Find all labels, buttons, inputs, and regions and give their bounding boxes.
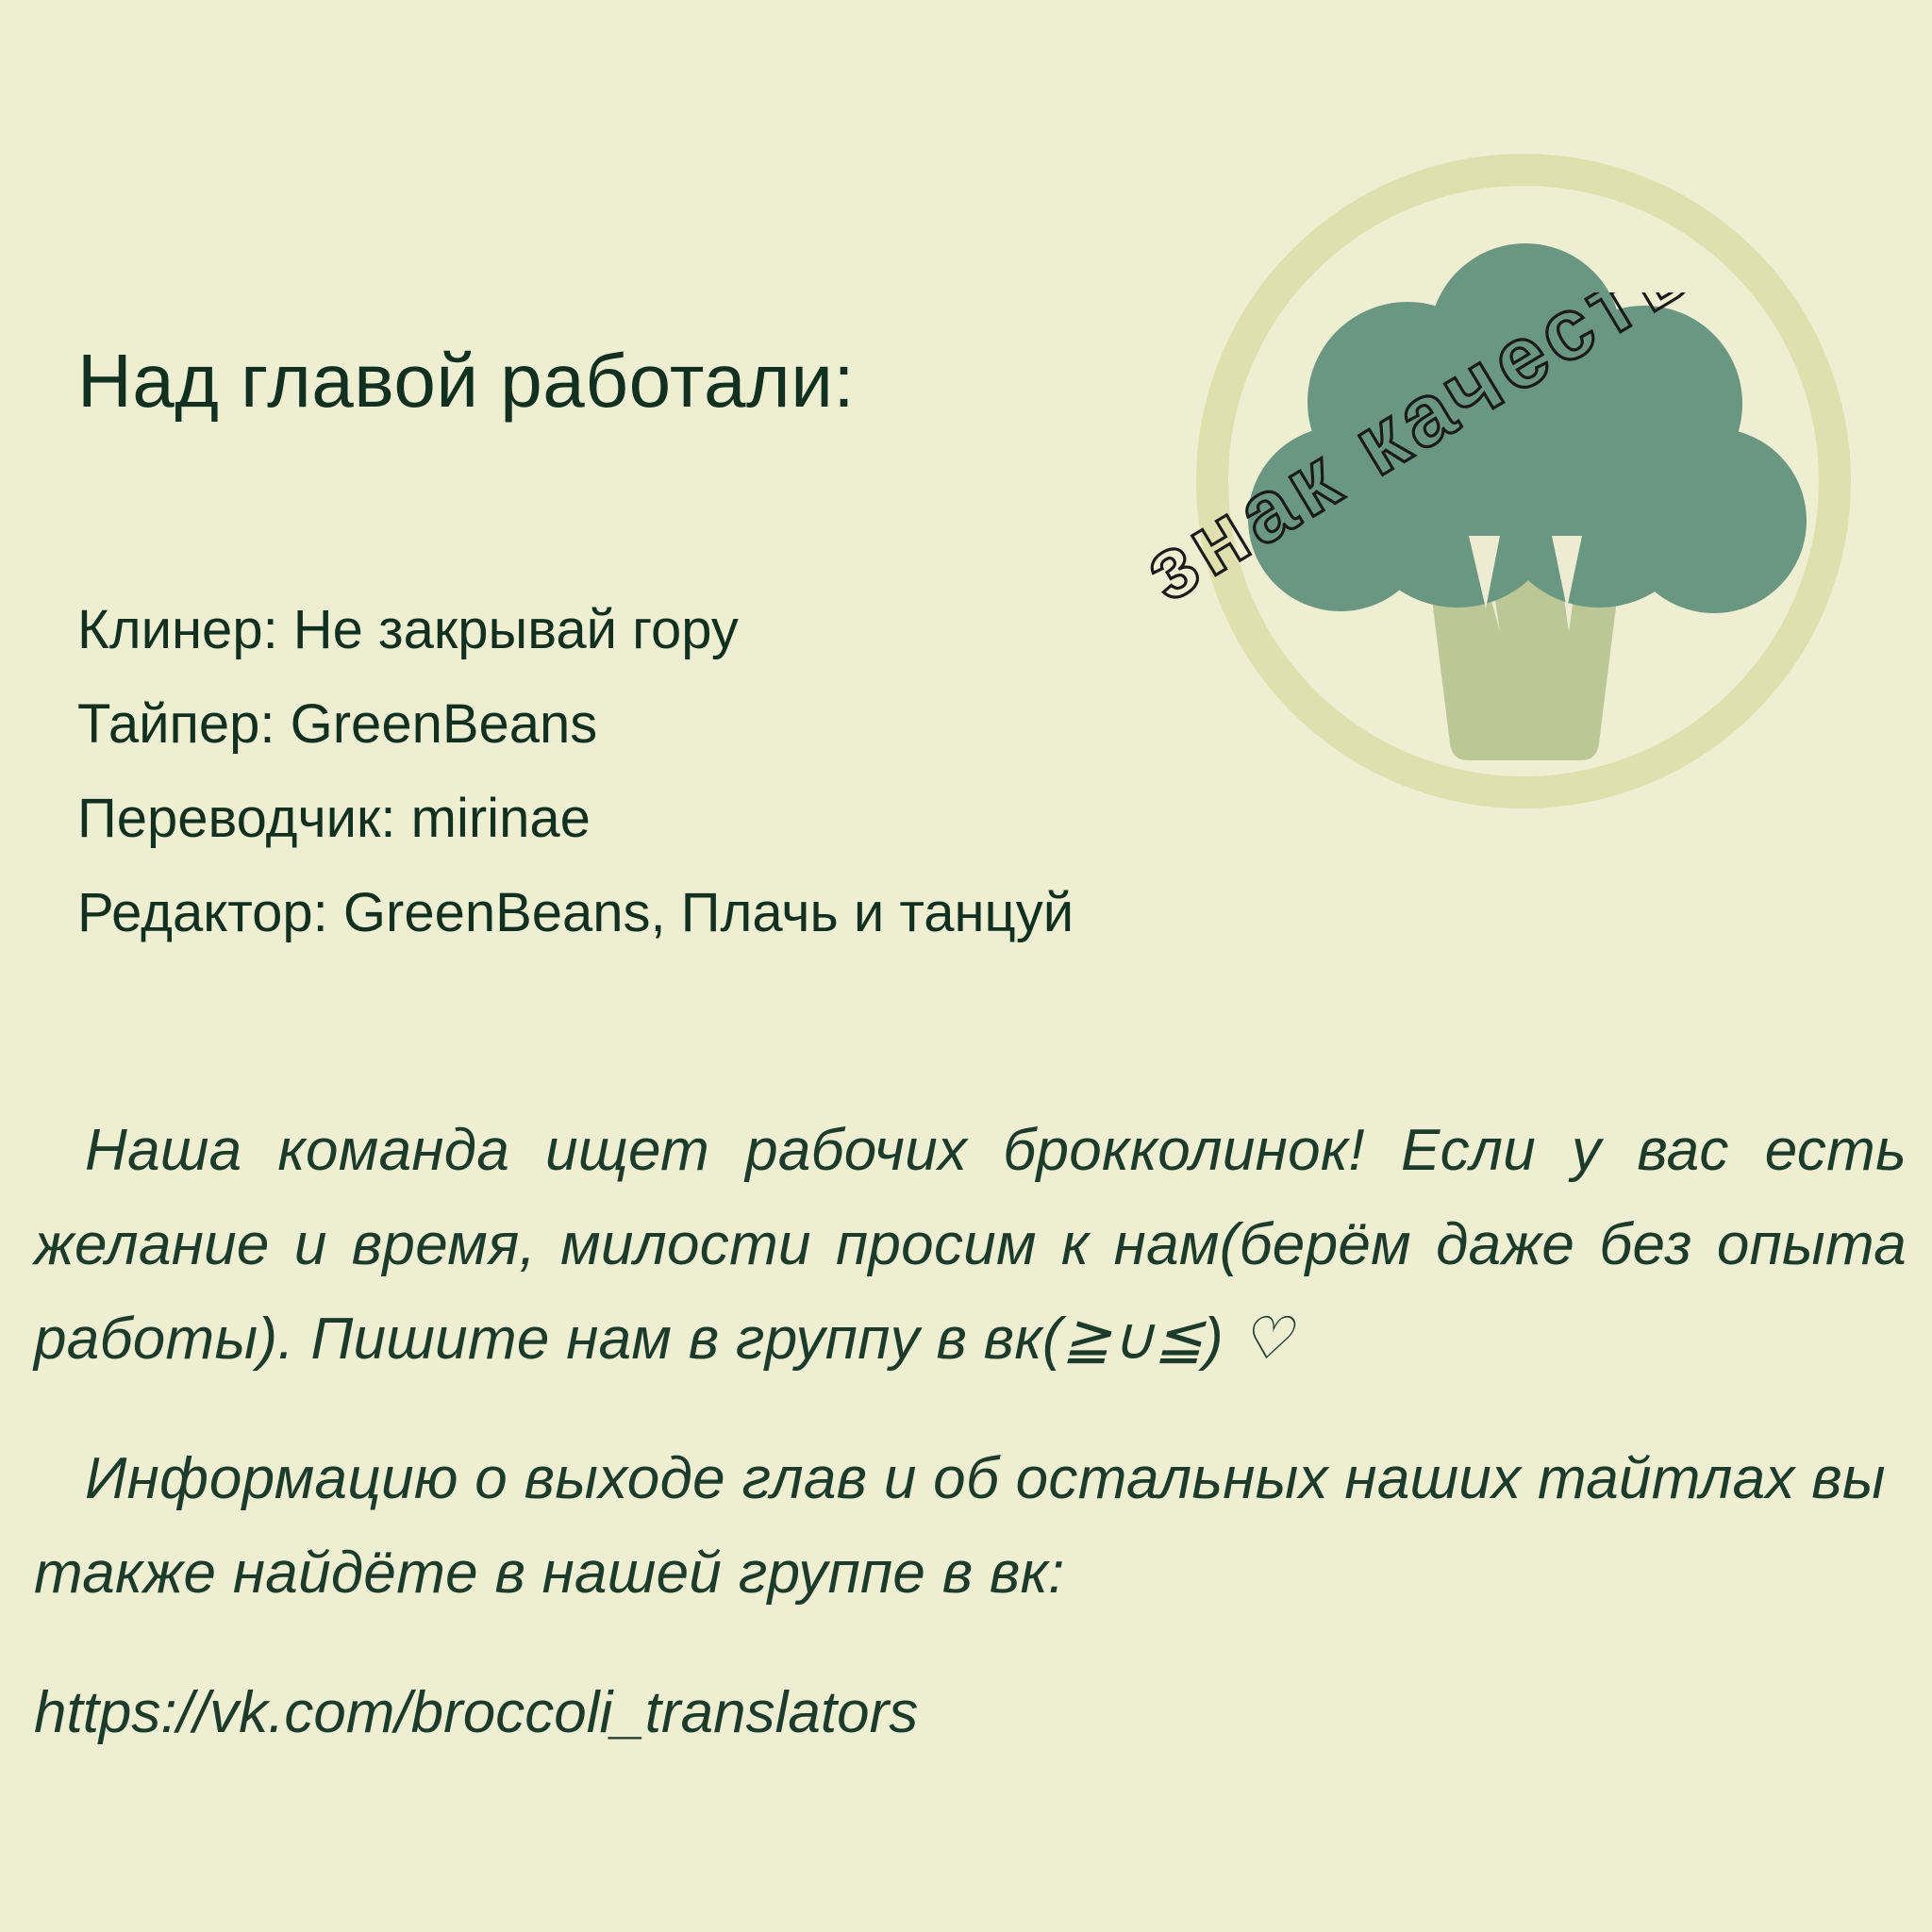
credit-line-typer: Тайпер: GreenBeans xyxy=(77,687,1398,781)
credit-line-editor: Редактор: GreenBeans, Плачь и танцуй xyxy=(77,875,1398,970)
info-paragraph: Информацию о выходе глав и об остальных … xyxy=(34,1432,1907,1621)
credit-line-cleaner: Клинер: Не закрывай гору xyxy=(77,592,1398,687)
vk-group-link[interactable]: https://vk.com/broccoli_translators xyxy=(34,1666,1907,1760)
page-root: знак качества Над главой работали: Клине… xyxy=(0,0,1932,1932)
page-title: Над главой работали: xyxy=(77,338,855,425)
body-text: Наша команда ищет рабочих брокколинок! Е… xyxy=(34,1104,1907,1760)
text-content: Над главой работали: Клинер: Не закрывай… xyxy=(0,0,1932,1932)
credit-line-translator: Переводчик: mirinae xyxy=(77,781,1398,875)
recruitment-paragraph: Наша команда ищет рабочих брокколинок! Е… xyxy=(34,1104,1907,1387)
credits-list: Клинер: Не закрывай гору Тайпер: GreenBe… xyxy=(77,592,1398,970)
